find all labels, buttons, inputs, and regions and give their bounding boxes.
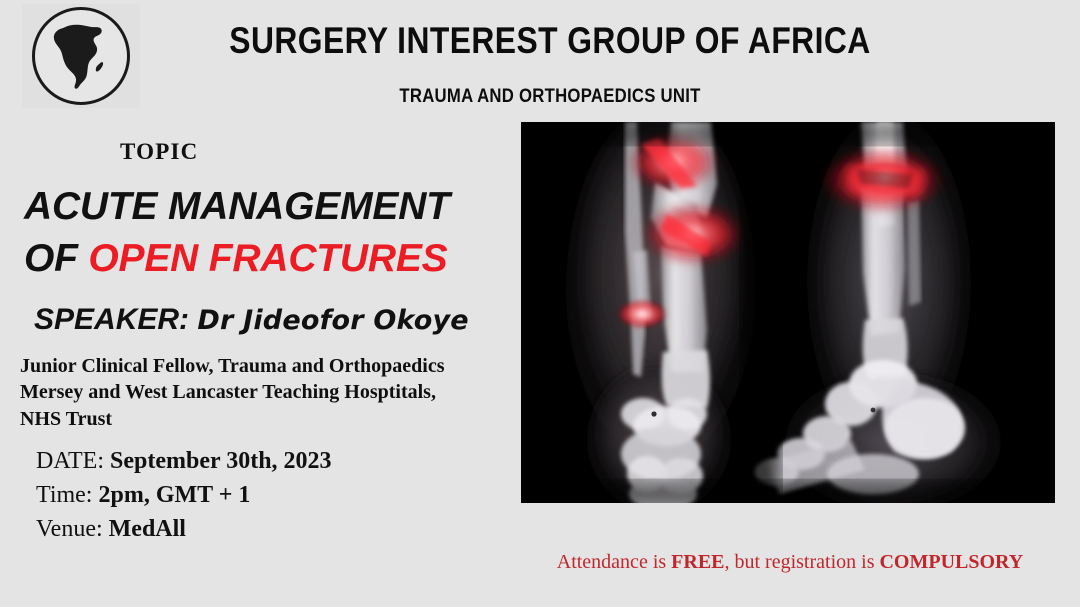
detail-date: DATE: September 30th, 2023 bbox=[36, 444, 332, 478]
event-details: DATE: September 30th, 2023 Time: 2pm, GM… bbox=[36, 444, 332, 546]
attendance-compulsory: COMPULSORY bbox=[879, 551, 1023, 573]
organisation-title: SURGERY INTEREST GROUP OF AFRICA bbox=[206, 22, 894, 61]
topic-title-line2: OF OPEN FRACTURES bbox=[24, 233, 494, 285]
speaker-affiliation: Junior Clinical Fellow, Trauma and Ortho… bbox=[20, 353, 520, 432]
topic-title-line2-prefix: OF bbox=[24, 237, 88, 280]
attendance-note: Attendance is FREE, but registration is … bbox=[520, 551, 1060, 574]
detail-venue-value: MedAll bbox=[109, 516, 186, 542]
topic-title-highlight: OPEN FRACTURES bbox=[88, 237, 447, 280]
topic-label: TOPIC bbox=[120, 139, 198, 165]
flyer-canvas: SURGERY INTEREST GROUP OF AFRICA TRAUMA … bbox=[0, 0, 1080, 607]
detail-venue-label: Venue: bbox=[36, 516, 109, 542]
detail-time-value: 2pm, GMT + 1 bbox=[98, 482, 250, 508]
attendance-part2: , but registration is bbox=[725, 551, 880, 573]
detail-time-label: Time: bbox=[36, 482, 98, 508]
detail-date-value: September 30th, 2023 bbox=[110, 448, 332, 474]
xray-image bbox=[521, 122, 1055, 503]
affiliation-line-3: NHS Trust bbox=[20, 406, 520, 432]
xray-ap-view bbox=[566, 122, 756, 503]
africa-logo-icon bbox=[32, 7, 130, 105]
detail-time: Time: 2pm, GMT + 1 bbox=[36, 478, 332, 512]
affiliation-line-2: Mersey and West Lancaster Teaching Hospt… bbox=[20, 379, 520, 405]
unit-subtitle: TRAUMA AND ORTHOPAEDICS UNIT bbox=[198, 86, 902, 108]
detail-venue: Venue: MedAll bbox=[36, 512, 332, 546]
speaker-label: SPEAKER bbox=[34, 303, 179, 336]
detail-date-label: DATE: bbox=[36, 448, 110, 474]
logo-container bbox=[22, 4, 140, 108]
topic-title: ACUTE MANAGEMENT OF OPEN FRACTURES bbox=[24, 181, 494, 285]
speaker-line: SPEAKER: Dr Jideofor Okoye bbox=[34, 303, 469, 337]
attendance-part1: Attendance is bbox=[557, 551, 671, 573]
affiliation-line-1: Junior Clinical Fellow, Trauma and Ortho… bbox=[20, 353, 520, 379]
speaker-separator: : bbox=[179, 303, 197, 336]
topic-title-line1: ACUTE MANAGEMENT bbox=[24, 185, 450, 228]
attendance-free: FREE bbox=[671, 551, 724, 573]
speaker-name: Dr Jideofor Okoye bbox=[197, 305, 468, 336]
